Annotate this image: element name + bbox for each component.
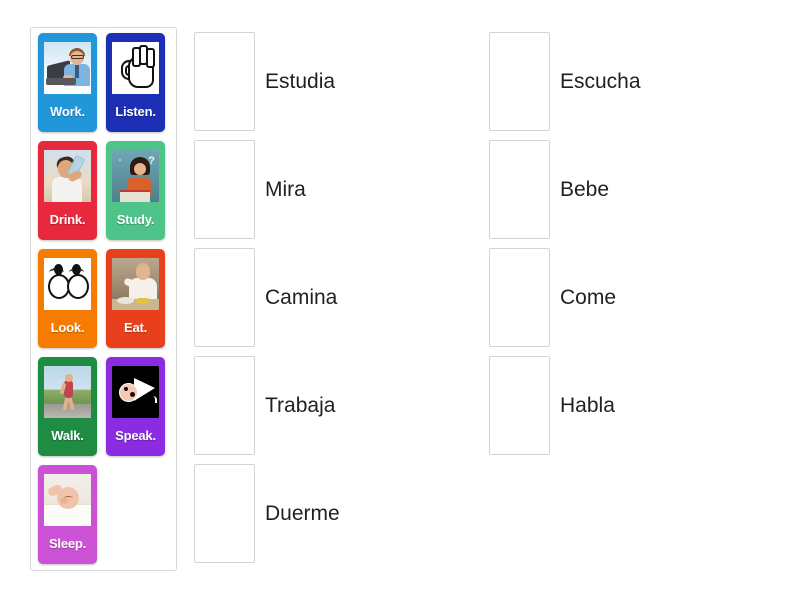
tile-label: Speak. — [106, 418, 165, 456]
dropzone-estudia[interactable] — [194, 32, 255, 131]
answer-row-come[interactable]: Come — [489, 248, 616, 347]
dropzone-bebe[interactable] — [489, 140, 550, 239]
megaphone-face-icon — [112, 366, 159, 418]
answer-row-duerme[interactable]: Duerme — [194, 464, 340, 563]
answer-word: Escucha — [560, 71, 641, 92]
dropzone-trabaja[interactable] — [194, 356, 255, 455]
answer-row-habla[interactable]: Habla — [489, 356, 615, 455]
dropzone-mira[interactable] — [194, 140, 255, 239]
activity-stage: Work. Listen. Drink. ? Study. Look. Eat.… — [0, 0, 800, 600]
answer-word: Mira — [265, 179, 306, 200]
answer-word: Duerme — [265, 503, 340, 524]
tile-label: Walk. — [38, 418, 97, 456]
tile-look[interactable]: Look. — [38, 249, 97, 348]
tile-study[interactable]: ? Study. — [106, 141, 165, 240]
answer-word: Come — [560, 287, 616, 308]
tile-label: Listen. — [106, 94, 165, 132]
answer-row-camina[interactable]: Camina — [194, 248, 337, 347]
tile-label: Look. — [38, 310, 97, 348]
dropzone-duerme[interactable] — [194, 464, 255, 563]
tile-walk[interactable]: Walk. — [38, 357, 97, 456]
tile-eat[interactable]: Eat. — [106, 249, 165, 348]
tile-label: Study. — [106, 202, 165, 240]
tile-label: Work. — [38, 94, 97, 132]
answer-row-mira[interactable]: Mira — [194, 140, 306, 239]
answer-row-escucha[interactable]: Escucha — [489, 32, 641, 131]
man-eating-icon — [112, 258, 159, 310]
answer-word: Estudia — [265, 71, 335, 92]
tile-label: Eat. — [106, 310, 165, 348]
dropzone-camina[interactable] — [194, 248, 255, 347]
tile-work[interactable]: Work. — [38, 33, 97, 132]
cartoon-eyes-icon — [44, 258, 91, 310]
answer-word: Camina — [265, 287, 337, 308]
answer-word: Trabaja — [265, 395, 335, 416]
woman-walking-icon — [44, 366, 91, 418]
man-drinking-water-icon — [44, 150, 91, 202]
dropzone-come[interactable] — [489, 248, 550, 347]
dropzone-escucha[interactable] — [489, 32, 550, 131]
sleeping-baby-icon — [44, 474, 91, 526]
hand-cupped-ear-icon — [112, 42, 159, 94]
answer-row-trabaja[interactable]: Trabaja — [194, 356, 335, 455]
answer-word: Habla — [560, 395, 615, 416]
draggable-tile-tray[interactable]: Work. Listen. Drink. ? Study. Look. Eat.… — [30, 27, 177, 571]
student-with-books-icon: ? — [112, 150, 159, 202]
answer-word: Bebe — [560, 179, 609, 200]
tile-label: Drink. — [38, 202, 97, 240]
tile-sleep[interactable]: Sleep. — [38, 465, 97, 564]
tile-drink[interactable]: Drink. — [38, 141, 97, 240]
tile-speak[interactable]: Speak. — [106, 357, 165, 456]
answer-row-bebe[interactable]: Bebe — [489, 140, 609, 239]
answer-row-estudia[interactable]: Estudia — [194, 32, 335, 131]
dropzone-habla[interactable] — [489, 356, 550, 455]
tile-label: Sleep. — [38, 526, 97, 564]
person-at-laptop-icon — [44, 42, 91, 94]
tile-listen[interactable]: Listen. — [106, 33, 165, 132]
